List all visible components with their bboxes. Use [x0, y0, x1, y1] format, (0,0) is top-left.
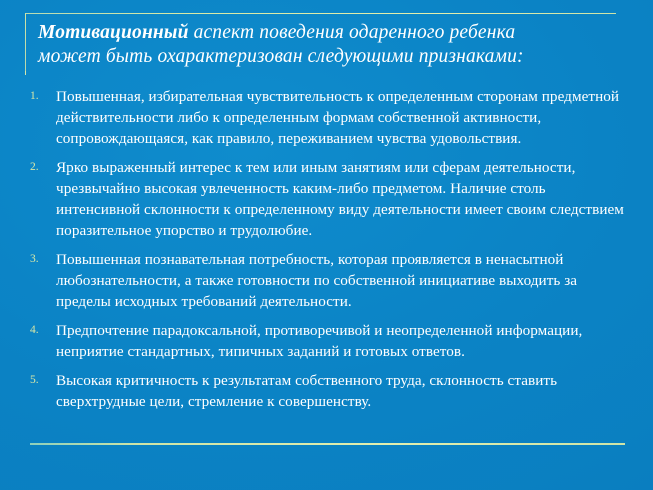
slide-title-line-1: Мотивационный аспект поведения одаренног…	[38, 21, 615, 45]
slide-title-block: Мотивационный аспект поведения одаренног…	[25, 13, 615, 75]
slide-title-line-1-rest: аспект поведения одаренного ребенка	[189, 22, 516, 43]
list-item-number: 1.	[28, 86, 56, 107]
title-top-rule	[26, 13, 616, 15]
slide-title-line-2: может быть охарактеризован следующими пр…	[38, 45, 615, 69]
list-item: 5. Высокая критичность к результатам соб…	[28, 370, 628, 412]
list-item-text: Высокая критичность к результатам собств…	[56, 370, 628, 412]
list-item: 4. Предпочтение парадоксальной, противор…	[28, 320, 628, 362]
title-left-rule	[25, 13, 27, 71]
list-item: 1. Повышенная, избирательная чувствитель…	[28, 86, 628, 149]
list-item-number: 2.	[28, 157, 56, 178]
numbered-list: 1. Повышенная, избирательная чувствитель…	[28, 86, 628, 412]
list-item-number: 5.	[28, 370, 56, 391]
presentation-slide: Мотивационный аспект поведения одаренног…	[0, 0, 653, 490]
list-item-text: Повышенная познавательная потребность, к…	[56, 249, 628, 312]
list-item: 2. Ярко выраженный интерес к тем или ины…	[28, 157, 628, 241]
list-item-number: 4.	[28, 320, 56, 341]
list-item: 3. Повышенная познавательная потребность…	[28, 249, 628, 312]
list-item-text: Предпочтение парадоксальной, противоречи…	[56, 320, 628, 362]
list-item-text: Повышенная, избирательная чувствительнос…	[56, 86, 628, 149]
list-item-text: Ярко выраженный интерес к тем или иным з…	[56, 157, 628, 241]
list-item-number: 3.	[28, 249, 56, 270]
slide-title-emphasis: Мотивационный	[38, 22, 189, 43]
slide-bottom-rule	[30, 443, 625, 445]
